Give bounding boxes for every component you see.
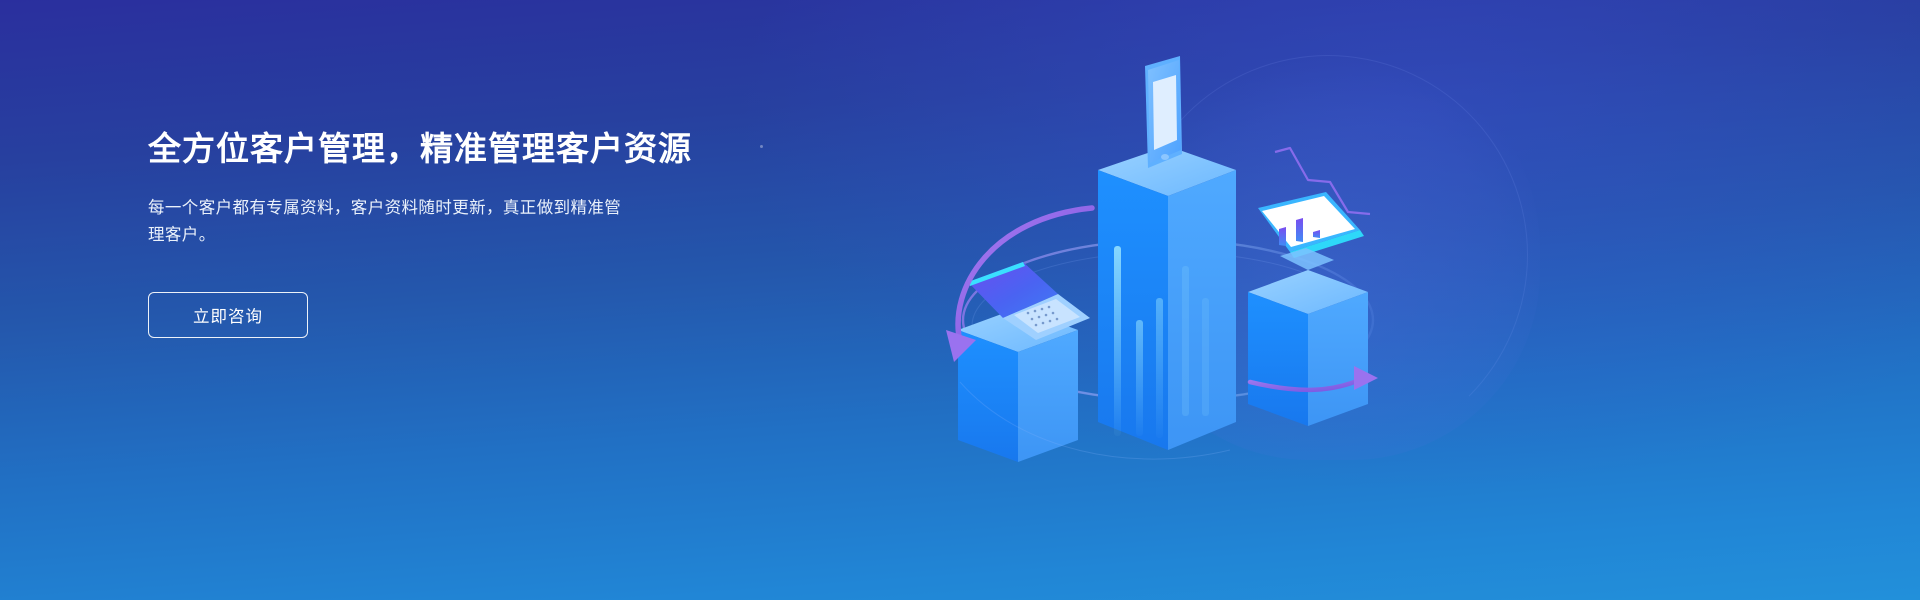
hero-illustration: [930, 30, 1400, 490]
consult-now-button[interactable]: 立即咨询: [148, 292, 308, 338]
page-title: 全方位客户管理，精准管理客户资源: [148, 128, 788, 169]
monitor-device: [1258, 192, 1364, 270]
center-pillar: [1098, 146, 1236, 450]
hero-banner: 全方位客户管理，精准管理客户资源 每一个客户都有专属资料，客户资料随时更新，真正…: [0, 0, 1920, 600]
banner-copy: 全方位客户管理，精准管理客户资源 每一个客户都有专属资料，客户资料随时更新，真正…: [148, 128, 788, 338]
right-pillar: [1248, 270, 1368, 426]
left-pillar: [958, 308, 1078, 462]
banner-subtitle: 每一个客户都有专属资料，客户资料随时更新，真正做到精准管理客户。: [148, 195, 628, 248]
tablet-device: [1145, 56, 1182, 168]
